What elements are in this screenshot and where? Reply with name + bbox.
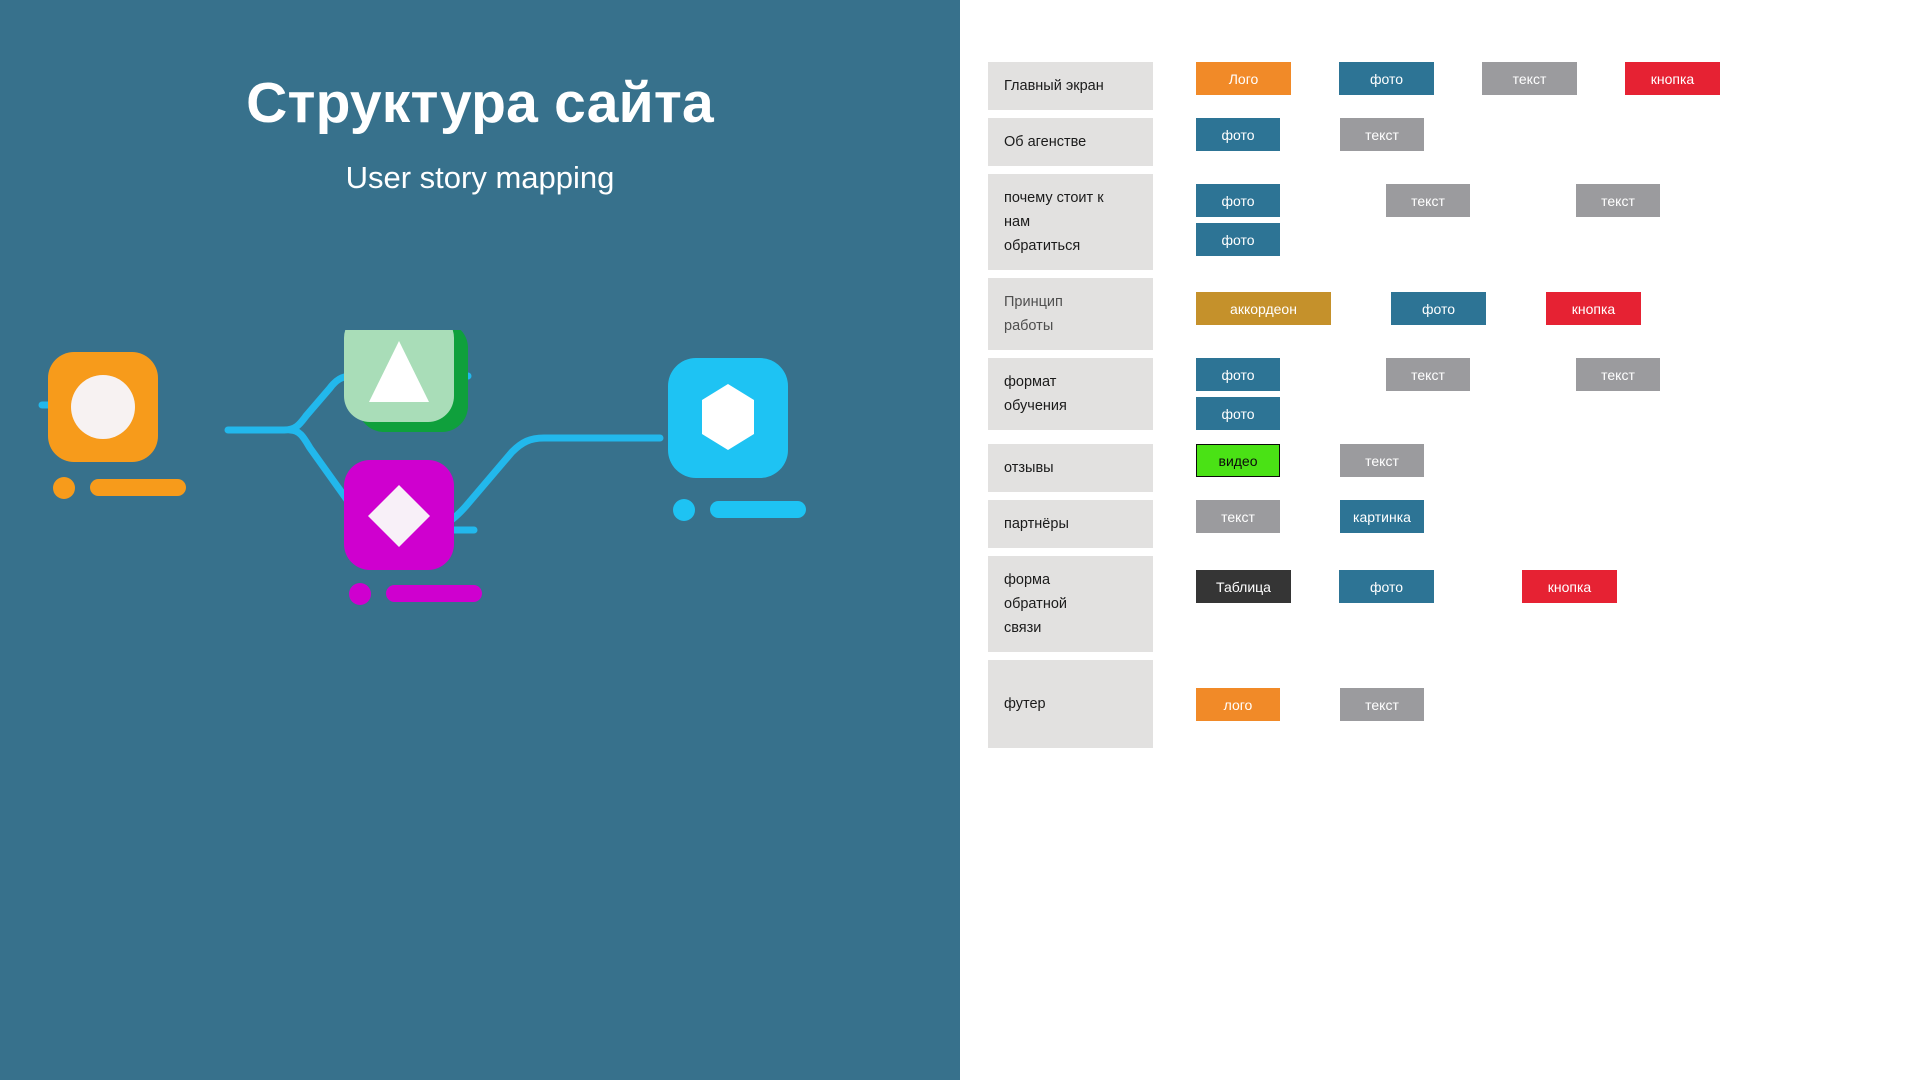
sitemap-row: формат обученияфототексттекстфото: [988, 358, 1920, 436]
sitemap-row: Об агенствефототекст: [988, 118, 1920, 166]
block-photo[interactable]: фото: [1196, 358, 1280, 391]
row-label[interactable]: футер: [988, 660, 1153, 748]
block-pic[interactable]: картинка: [1340, 500, 1424, 533]
grid-cell: текст: [1386, 184, 1576, 217]
row-blocks: фототекст: [1153, 118, 1920, 151]
block-photo[interactable]: фото: [1196, 118, 1280, 151]
block-text[interactable]: текст: [1196, 500, 1280, 533]
right-panel: Главный экранЛогофототексткнопкаОб агенс…: [960, 0, 1920, 1080]
row-label-text: форма обратной связи: [1004, 568, 1067, 640]
block-photo[interactable]: фото: [1196, 184, 1280, 217]
block-acc[interactable]: аккордеон: [1196, 292, 1331, 325]
sitemap-row: форма обратной связиТаблицафотокнопка: [988, 556, 1920, 652]
left-panel: Структура сайта User story mapping: [0, 0, 960, 1080]
sitemap-row: отзывывидеотекст: [988, 444, 1920, 492]
title-block: Структура сайта User story mapping: [0, 0, 960, 196]
grid-cell: текст: [1386, 358, 1576, 391]
sitemap-row: футерлоготекст: [988, 660, 1920, 748]
row-label[interactable]: формат обучения: [988, 358, 1153, 430]
row-label[interactable]: Принцип работы: [988, 278, 1153, 350]
sitemap-row: партнёрытексткартинка: [988, 500, 1920, 548]
block-logo[interactable]: лого: [1196, 688, 1280, 721]
block-text[interactable]: текст: [1386, 358, 1470, 391]
row-label-text: почему стоит к нам обратиться: [1004, 186, 1104, 258]
row-label-text: Принцип работы: [1004, 290, 1063, 338]
block-button[interactable]: кнопка: [1625, 62, 1720, 95]
sitemap-rows: Главный экранЛогофототексткнопкаОб агенс…: [988, 62, 1920, 756]
block-logo[interactable]: Лого: [1196, 62, 1291, 95]
row-label-text: Главный экран: [1004, 74, 1104, 98]
block-photo[interactable]: фото: [1339, 62, 1434, 95]
sitemap-row: Принцип работыаккордеонфотокнопка: [988, 278, 1920, 350]
block-photo[interactable]: фото: [1196, 223, 1280, 256]
row-label[interactable]: отзывы: [988, 444, 1153, 492]
row-blocks: тексткартинка: [1153, 500, 1920, 533]
block-photo[interactable]: фото: [1339, 570, 1434, 603]
row-label[interactable]: почему стоит к нам обратиться: [988, 174, 1153, 270]
orange-node: [48, 352, 186, 499]
grid-cell: фото: [1196, 397, 1386, 430]
sitemap-row: почему стоит к нам обратитьсяфототекстте…: [988, 174, 1920, 270]
row-label[interactable]: партнёры: [988, 500, 1153, 548]
row-blocks: Таблицафотокнопка: [1153, 556, 1920, 603]
block-text[interactable]: текст: [1340, 444, 1424, 477]
row-blocks: логотекст: [1153, 660, 1920, 721]
block-button[interactable]: кнопка: [1522, 570, 1617, 603]
block-text[interactable]: текст: [1340, 118, 1424, 151]
grid-cell: текст: [1576, 184, 1766, 217]
page-title: Структура сайта: [0, 72, 960, 135]
grid-cell: фото: [1196, 184, 1386, 217]
row-blocks: видеотекст: [1153, 444, 1920, 477]
grid-cell: фото: [1196, 358, 1386, 391]
grid-cell: текст: [1576, 358, 1766, 391]
cyan-node: [668, 358, 806, 521]
row-label-text: отзывы: [1004, 456, 1054, 480]
row-label-text: формат обучения: [1004, 370, 1067, 418]
block-table[interactable]: Таблица: [1196, 570, 1291, 603]
block-photo[interactable]: фото: [1391, 292, 1486, 325]
grid-cell: фото: [1196, 223, 1386, 256]
row-blocks: фототексттекстфото: [1153, 174, 1920, 262]
row-label-text: Об агенстве: [1004, 130, 1086, 154]
block-text[interactable]: текст: [1340, 688, 1424, 721]
block-text[interactable]: текст: [1576, 358, 1660, 391]
block-button[interactable]: кнопка: [1546, 292, 1641, 325]
green-node: [344, 330, 468, 432]
block-video[interactable]: видео: [1196, 444, 1280, 477]
block-text[interactable]: текст: [1386, 184, 1470, 217]
slide-root: Структура сайта User story mapping: [0, 0, 1920, 1080]
row-label-text: футер: [1004, 692, 1046, 716]
row-blocks: аккордеонфотокнопка: [1153, 278, 1920, 325]
row-label[interactable]: форма обратной связи: [988, 556, 1153, 652]
block-text[interactable]: текст: [1482, 62, 1577, 95]
row-label-text: партнёры: [1004, 512, 1069, 536]
sitemap-row: Главный экранЛогофототексткнопка: [988, 62, 1920, 110]
block-text[interactable]: текст: [1576, 184, 1660, 217]
row-blocks: фототексттекстфото: [1153, 358, 1920, 436]
block-photo[interactable]: фото: [1196, 397, 1280, 430]
row-label[interactable]: Главный экран: [988, 62, 1153, 110]
user-story-mapping-illustration: [0, 330, 960, 750]
row-label[interactable]: Об агенстве: [988, 118, 1153, 166]
row-blocks: Логофототексткнопка: [1153, 62, 1920, 95]
page-subtitle: User story mapping: [0, 159, 960, 196]
